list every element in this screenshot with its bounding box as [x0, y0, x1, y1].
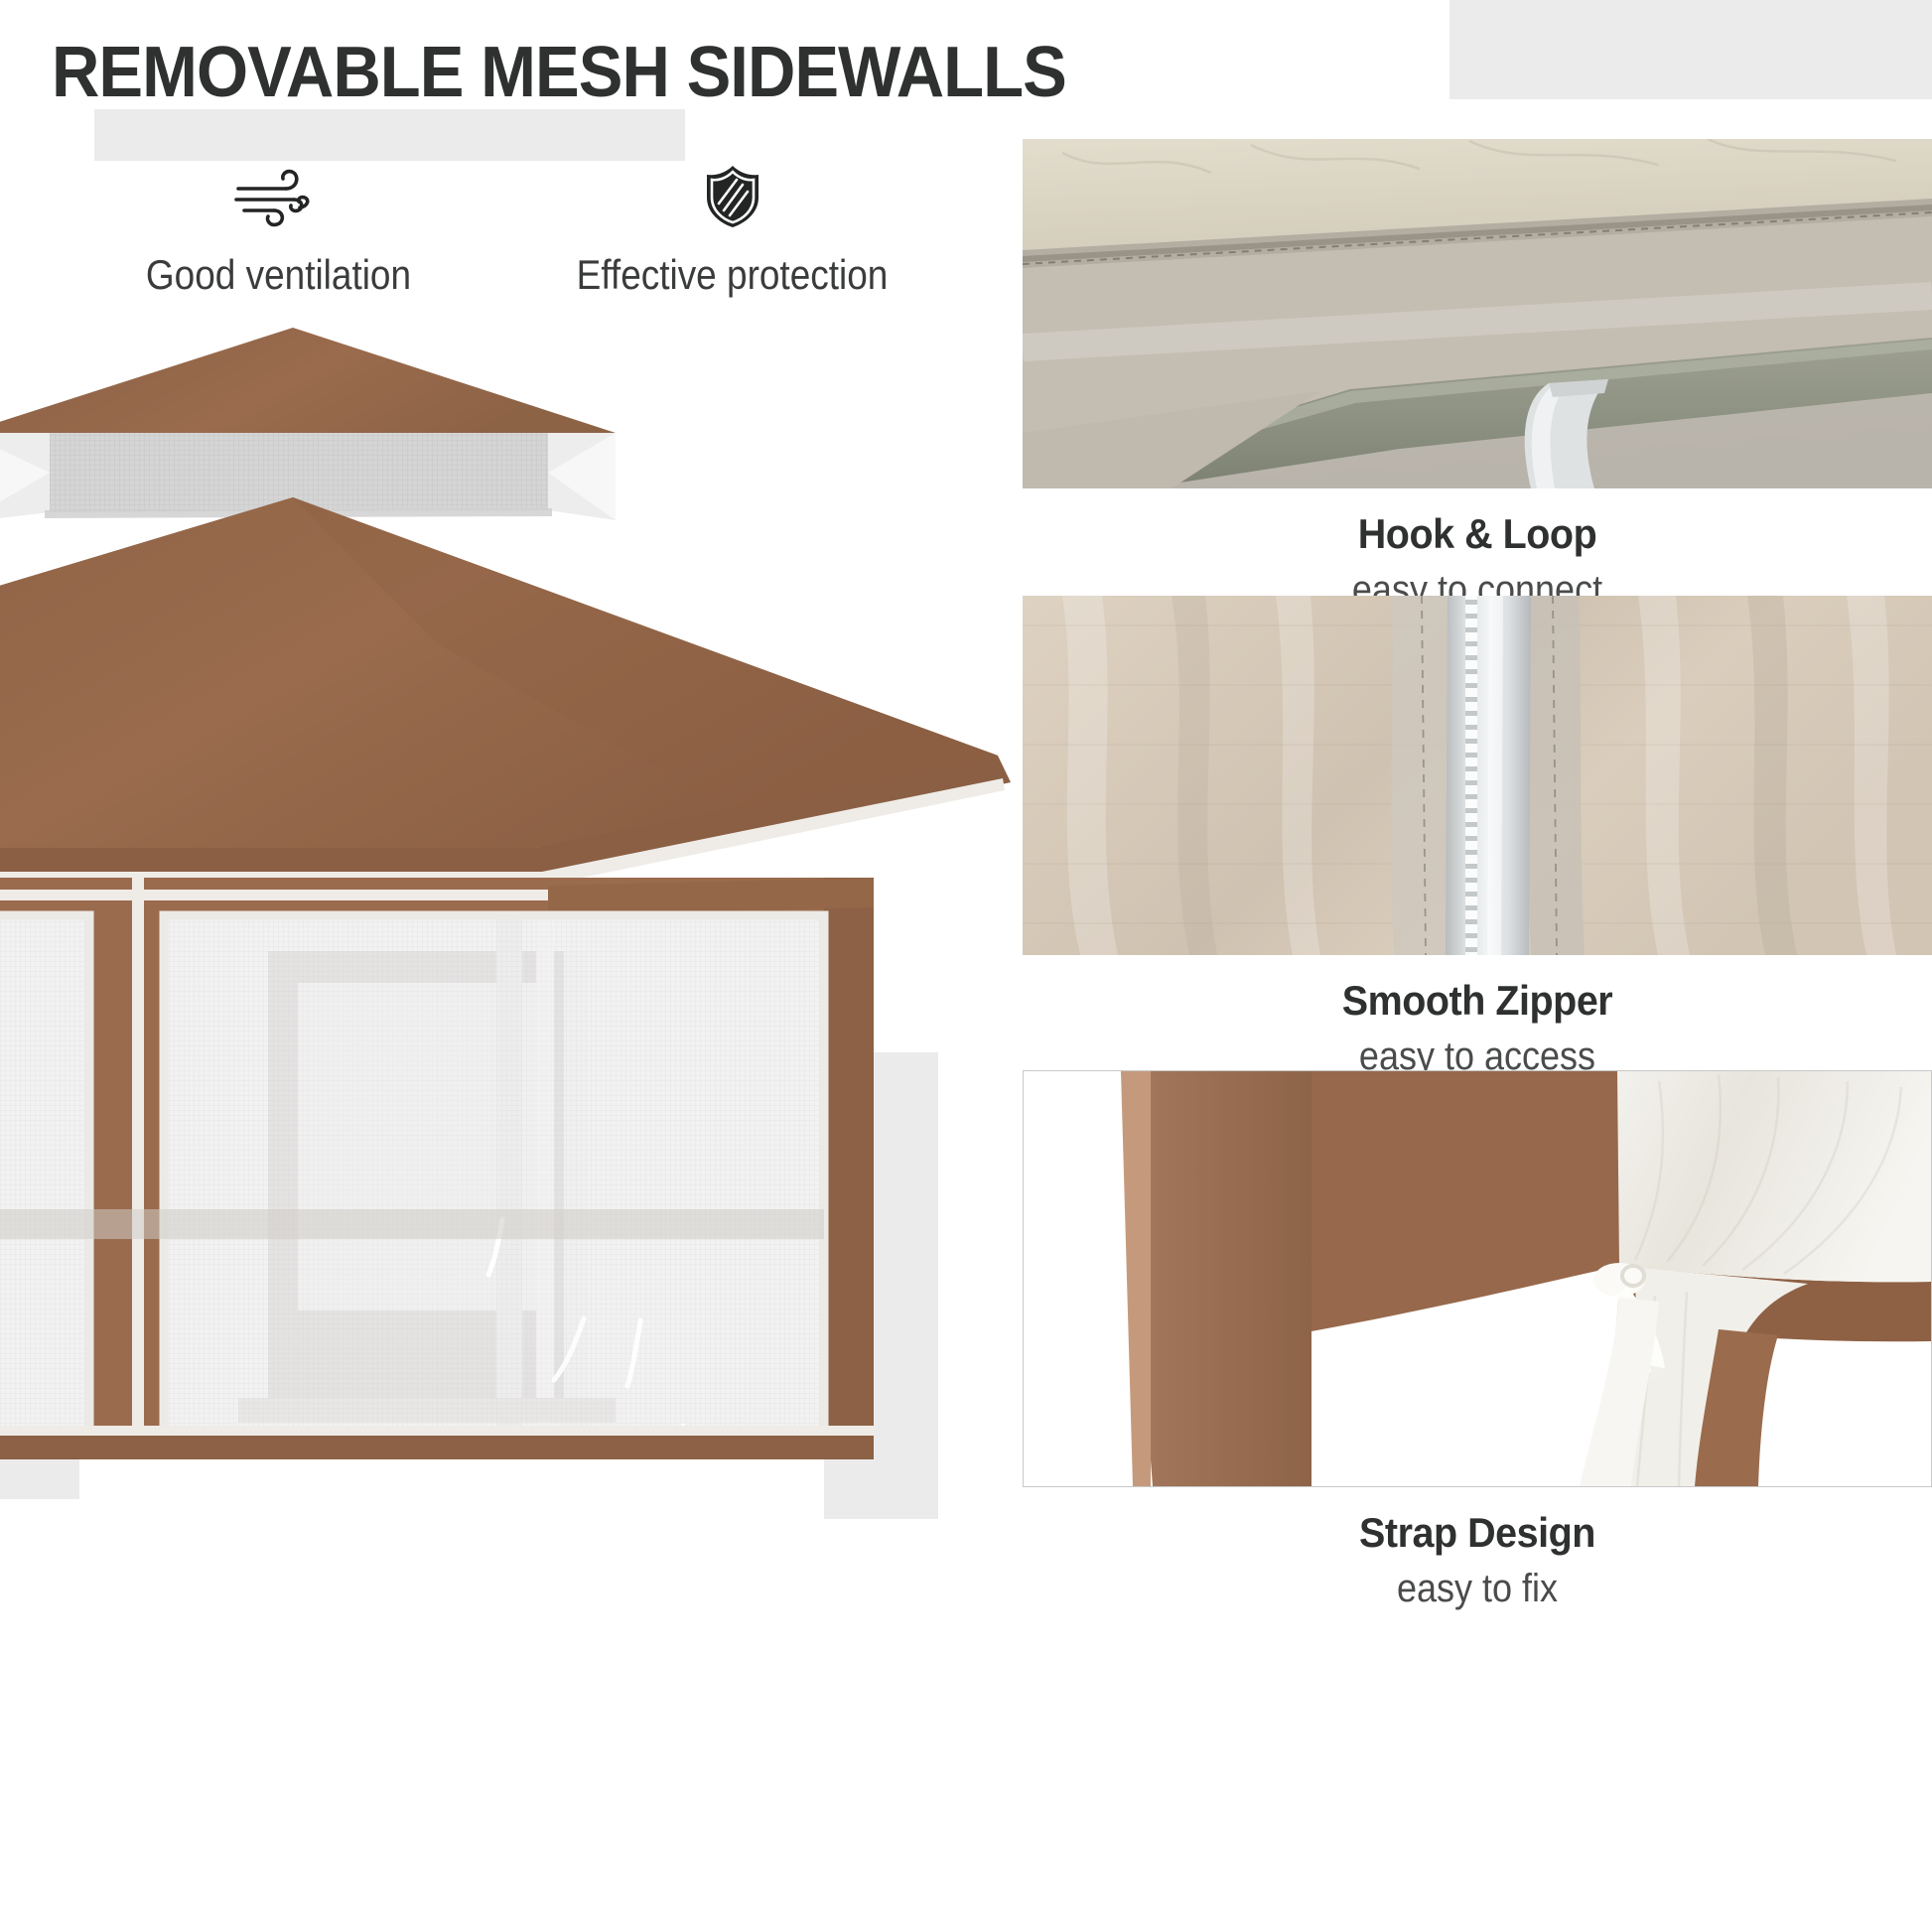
card-smooth-zipper: Smooth Zipper easy to access	[1023, 596, 1932, 1079]
card-title: Hook & Loop	[1049, 510, 1904, 558]
zipper-photo	[1023, 596, 1932, 955]
wind-icon	[87, 164, 470, 229]
card-subtitle: easy to fix	[1068, 1567, 1886, 1611]
feature-label: Effective protection	[564, 251, 900, 299]
feature-label: Good ventilation	[110, 251, 447, 299]
page-title: REMOVABLE MESH SIDEWALLS	[52, 32, 1066, 113]
card-hook-and-loop: Hook & Loop easy to connect	[1023, 139, 1932, 613]
card-title: Smooth Zipper	[1049, 977, 1904, 1025]
product-feature-page: REMOVABLE MESH SIDEWALLS Good ventilatio…	[0, 0, 1932, 1932]
decor-block-top-right	[1449, 0, 1932, 99]
card-strap-design: Strap Design easy to fix	[1023, 1070, 1932, 1611]
feature-good-ventilation: Good ventilation	[87, 164, 470, 299]
feature-effective-protection: Effective protection	[541, 164, 923, 299]
hook-and-loop-photo	[1023, 139, 1932, 488]
gazebo-illustration	[0, 316, 1033, 1487]
decor-block-title	[94, 109, 685, 161]
shield-icon	[541, 164, 923, 229]
card-title: Strap Design	[1049, 1509, 1904, 1557]
strap-photo	[1023, 1070, 1932, 1487]
